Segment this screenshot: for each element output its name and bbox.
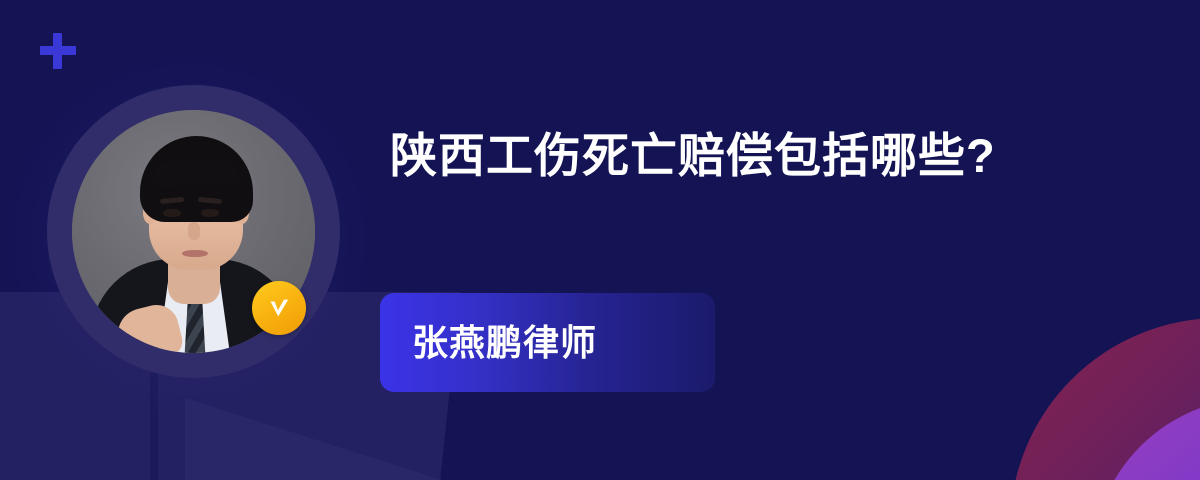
lawyer-name-button[interactable]: 张燕鹏律师 <box>380 293 715 392</box>
text-column: 陕西工伤死亡赔偿包括哪些? <box>390 118 1090 194</box>
portrait-nose <box>188 222 200 240</box>
verified-badge-icon <box>252 281 306 335</box>
plus-icon <box>40 33 76 69</box>
portrait-fringe <box>151 158 238 188</box>
portrait-eye-right <box>201 209 219 217</box>
avatar <box>47 85 340 378</box>
page-title: 陕西工伤死亡赔偿包括哪些? <box>390 118 1090 194</box>
lawyer-qa-banner: 陕西工伤死亡赔偿包括哪些? 张燕鹏律师 <box>0 0 1200 480</box>
portrait-eye-left <box>163 209 181 217</box>
portrait-mouth <box>182 250 208 257</box>
